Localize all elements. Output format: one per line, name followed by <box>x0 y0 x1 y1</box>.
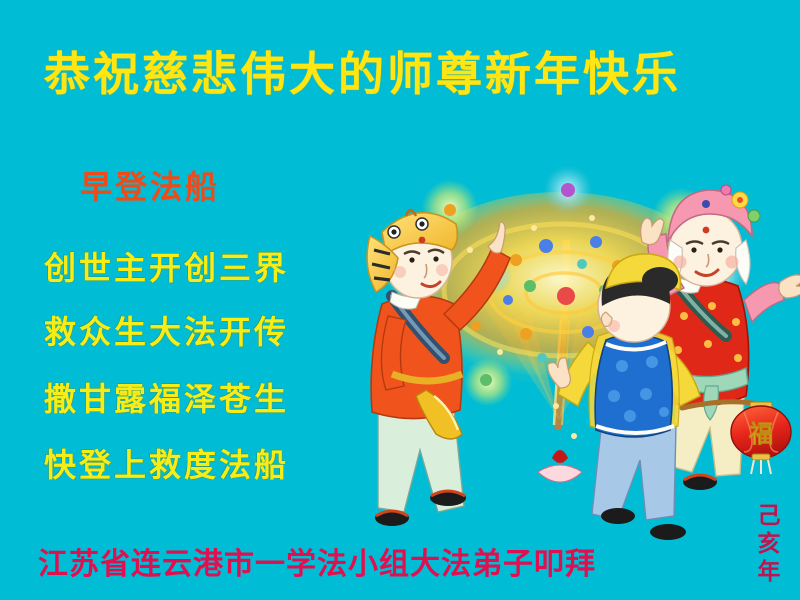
poem-subtitle: 早登法船 <box>80 162 220 208</box>
new-year-illustration: 福 <box>330 120 800 540</box>
signature-line: 江苏省连云港市一学法小组大法弟子叩拜 <box>38 539 596 583</box>
poem-line: 救众生大法开传 <box>44 307 289 353</box>
poem-line: 快登上救度法船 <box>44 440 289 486</box>
poem-line: 撒甘露福泽苍生 <box>44 374 289 420</box>
year-stamp-char: 亥 <box>754 530 784 558</box>
year-stamp-char: 己 <box>754 502 784 530</box>
year-stamp: 己 亥 年 <box>754 502 784 586</box>
page-title: 恭祝慈悲伟大的师尊新年快乐 <box>44 50 759 98</box>
new-year-greeting-card: 福 <box>0 0 800 600</box>
year-stamp-char: 年 <box>754 558 784 586</box>
poem-line: 创世主开创三界 <box>44 243 289 289</box>
lantern-fu-character: 福 <box>748 420 773 448</box>
